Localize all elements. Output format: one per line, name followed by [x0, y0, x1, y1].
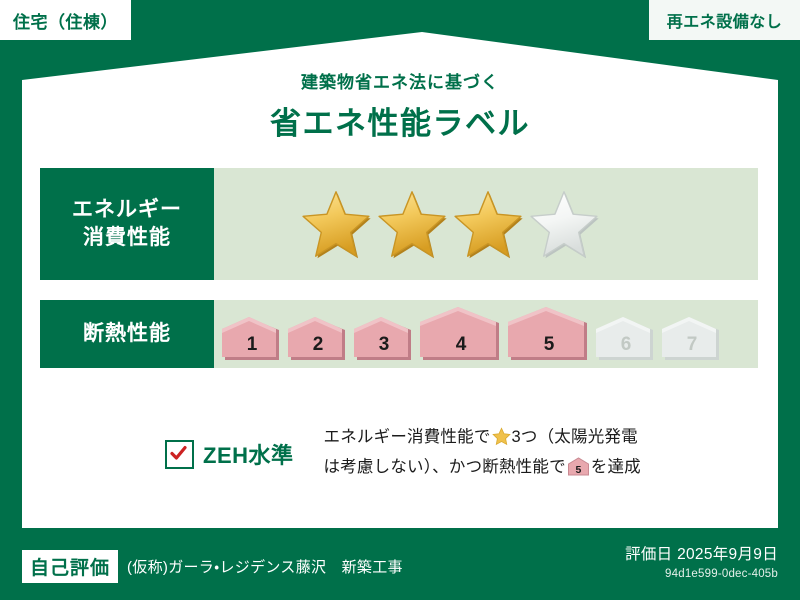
zeh-standard-name: ZEH水準 [203, 438, 294, 470]
insulation-level-number: 7 [662, 334, 722, 356]
zeh-description: エネルギー消費性能で 3つ（太陽光発電 は考慮しない）、かつ断熱性能で 5 を達… [324, 424, 641, 484]
footer-left: 自己評価 (仮称)ガーラ・レジデンス藤沢 新築工事 [22, 550, 403, 583]
star-rating [300, 189, 600, 259]
insulation-level-1: 1 [222, 317, 282, 361]
insulation-level-number: 1 [222, 334, 282, 356]
insulation-level-number: 2 [288, 334, 348, 356]
star-filled-icon [300, 189, 372, 259]
zeh-section: ZEH水準 エネルギー消費性能で 3つ（太陽光発電 は考慮しない）、かつ断熱性能… [40, 424, 758, 484]
insulation-level-2: 2 [288, 317, 348, 361]
star-empty-icon [528, 189, 600, 259]
zeh-desc-part1: エネルギー消費性能で [324, 428, 491, 446]
insulation-level-number: 3 [354, 334, 414, 356]
insulation-level-number: 6 [596, 334, 656, 356]
svg-text:5: 5 [575, 464, 581, 476]
insulation-label: 断熱性能 [40, 300, 214, 368]
insulation-level-number: 5 [508, 334, 590, 356]
ec-label-line2: 消費性能 [83, 224, 171, 252]
zeh-desc-part3: は考慮しない）、かつ断熱性能で [324, 458, 566, 476]
energy-consumption-label: エネルギー 消費性能 [40, 168, 214, 280]
zeh-desc-part2: 3つ（太陽光発電 [512, 428, 638, 446]
zeh-desc-part4: を達成 [591, 458, 641, 476]
energy-consumption-value [214, 168, 758, 280]
insulation-level-5: 5 [508, 307, 590, 361]
inline-house-5-icon: 5 [567, 457, 590, 484]
evaluation-type-badge: 自己評価 [22, 550, 118, 583]
label-id: 94d1e599-0dec-405b [625, 568, 778, 580]
zeh-standard-block: ZEH水準 [165, 438, 294, 470]
check-icon [169, 444, 188, 463]
zeh-checkbox[interactable] [165, 440, 194, 469]
renewable-energy-text: 再エネ設備なし [667, 8, 783, 32]
insulation-level-3: 3 [354, 317, 414, 361]
evaluation-date: 評価日 2025年9月9日 [625, 542, 778, 564]
ec-label-line1: エネルギー [72, 196, 182, 224]
insulation-level-4: 4 [420, 307, 502, 361]
building-type-tag: 住宅（住棟） [0, 0, 131, 40]
insulation-level-7: 7 [662, 317, 722, 361]
title-block: 建築物省エネ法に基づく 省エネ性能ラベル [0, 68, 800, 143]
star-filled-icon [376, 189, 448, 259]
footer-bar: 自己評価 (仮称)ガーラ・レジデンス藤沢 新築工事 評価日 2025年9月9日 … [0, 528, 800, 600]
insulation-level-6: 6 [596, 317, 656, 361]
footer-right: 評価日 2025年9月9日 94d1e599-0dec-405b [625, 542, 778, 580]
insulation-value: 1234567 [214, 300, 758, 368]
star-filled-icon [452, 189, 524, 259]
insulation-row: 断熱性能 1234567 [40, 300, 758, 368]
ins-label-line1: 断熱性能 [83, 320, 171, 348]
building-name: (仮称)ガーラ・レジデンス藤沢 新築工事 [127, 556, 403, 577]
energy-consumption-row: エネルギー 消費性能 [40, 168, 758, 280]
building-type-text: 住宅（住棟） [13, 8, 118, 33]
inline-star-icon [492, 427, 511, 454]
renewable-energy-tag: 再エネ設備なし [649, 0, 800, 40]
insulation-level-number: 4 [420, 334, 502, 356]
energy-performance-label: 住宅（住棟） 再エネ設備なし 建築物省エネ法に基づく 省エネ性能ラベル エネルギ… [0, 0, 800, 600]
title-subtitle: 建築物省エネ法に基づく [0, 68, 800, 93]
page-title: 省エネ性能ラベル [0, 98, 800, 143]
insulation-level-scale: 1234567 [222, 307, 722, 361]
